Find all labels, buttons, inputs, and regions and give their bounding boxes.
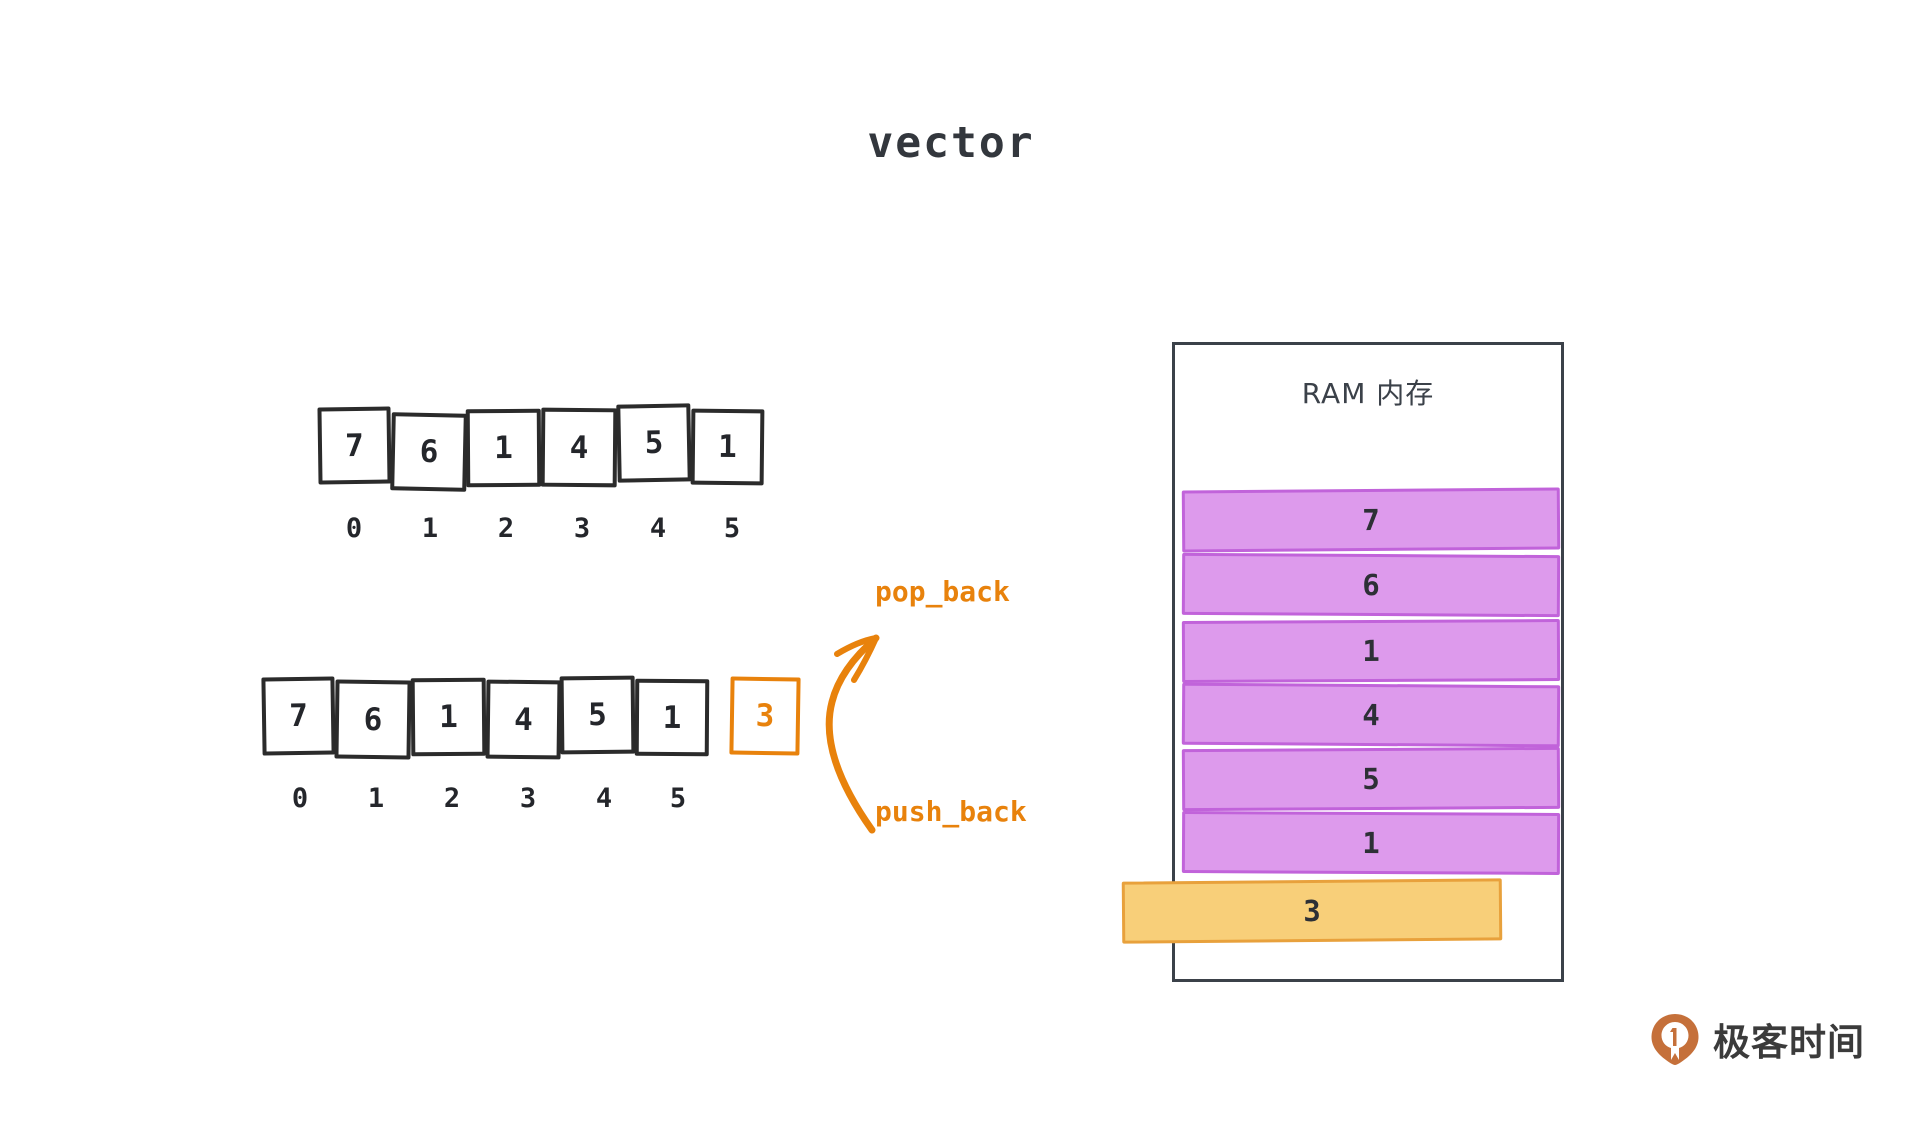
array-index-label: 5 — [658, 783, 698, 814]
memory-block: 1 — [1182, 619, 1560, 683]
array-cell: 4 — [486, 680, 562, 760]
array-index-label: 1 — [356, 783, 396, 814]
memory-block: 4 — [1182, 683, 1560, 748]
array-cell: 1 — [635, 679, 710, 757]
array-index-label: 2 — [432, 783, 472, 814]
geekbang-pin-icon — [1650, 1013, 1700, 1066]
array-index-label: 0 — [334, 513, 374, 544]
array-index-label: 3 — [562, 513, 602, 544]
array-index-label: 1 — [410, 513, 450, 544]
array-index-label: 4 — [638, 513, 678, 544]
array-cell: 6 — [334, 679, 411, 759]
ram-panel-title: RAM 内存 — [1172, 372, 1564, 412]
array-index-label: 3 — [508, 783, 548, 814]
array-cell: 5 — [560, 676, 636, 755]
array-cell: 4 — [541, 408, 618, 488]
diagram-canvas: vector 7 6 1 4 5 1 0 1 2 3 4 5 7 6 1 4 5… — [0, 0, 1920, 1145]
watermark-text: 极客时间 — [1713, 1012, 1865, 1066]
array-cell: 7 — [317, 406, 391, 484]
array-index-label: 4 — [584, 783, 624, 814]
memory-block: 7 — [1182, 488, 1560, 553]
array-cell: 6 — [390, 412, 468, 492]
array-cell: 5 — [616, 403, 691, 482]
page-title: vector — [0, 118, 1920, 168]
memory-block: 1 — [1182, 811, 1560, 875]
array-cell: 7 — [261, 676, 335, 755]
array-index-label: 0 — [280, 783, 320, 814]
array-cell: 1 — [691, 409, 765, 486]
watermark: 极客时间 — [1650, 1012, 1865, 1066]
page-title-text: vector — [867, 118, 1034, 168]
array-cell: 1 — [466, 409, 542, 488]
array-cell: 1 — [411, 678, 487, 757]
memory-block-pending: 3 — [1122, 878, 1503, 943]
array-index-label: 2 — [486, 513, 526, 544]
flow-arrow-icon — [780, 590, 1000, 840]
memory-block: 5 — [1182, 747, 1560, 811]
memory-block: 6 — [1182, 553, 1560, 617]
array-index-label: 5 — [712, 513, 752, 544]
